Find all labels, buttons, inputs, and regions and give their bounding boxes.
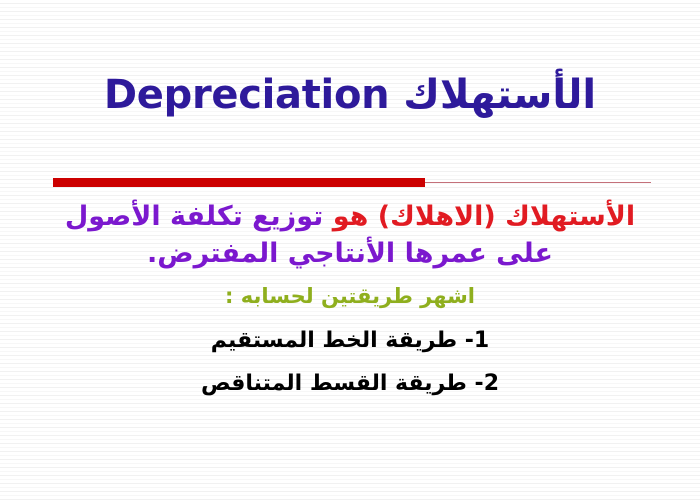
- slide-title-text: الأستهلاك Depreciation: [104, 74, 596, 116]
- method-item-2: 2- طريقة القسط المتناقص: [20, 368, 680, 400]
- slide-canvas: الأستهلاك Depreciation الأستهلاك (الاهلا…: [0, 0, 700, 501]
- title-divider: [53, 178, 651, 188]
- definition-line-2: على عمرها الأنتاجي المفترض.: [20, 237, 680, 272]
- slide-title: الأستهلاك Depreciation: [0, 74, 700, 116]
- slide-body: الأستهلاك (الاهلاك) هو توزيع تكلفة الأصو…: [20, 200, 680, 400]
- method-item-1: 1- طريقة الخط المستقيم: [20, 325, 680, 357]
- divider-thin-line: [425, 182, 651, 183]
- definition-line-1-red-segment: الأستهلاك (الاهلاك) هو: [333, 201, 635, 232]
- definition-line-2-purple-segment: على عمرها الأنتاجي المفترض.: [147, 238, 553, 269]
- definition-line-1-purple-segment: توزيع تكلفة الأصول: [65, 201, 323, 232]
- definition-line-1: الأستهلاك (الاهلاك) هو توزيع تكلفة الأصو…: [20, 200, 680, 235]
- methods-intro-text: اشهر طريقتين لحسابه :: [20, 281, 680, 313]
- divider-red-bar: [53, 178, 425, 187]
